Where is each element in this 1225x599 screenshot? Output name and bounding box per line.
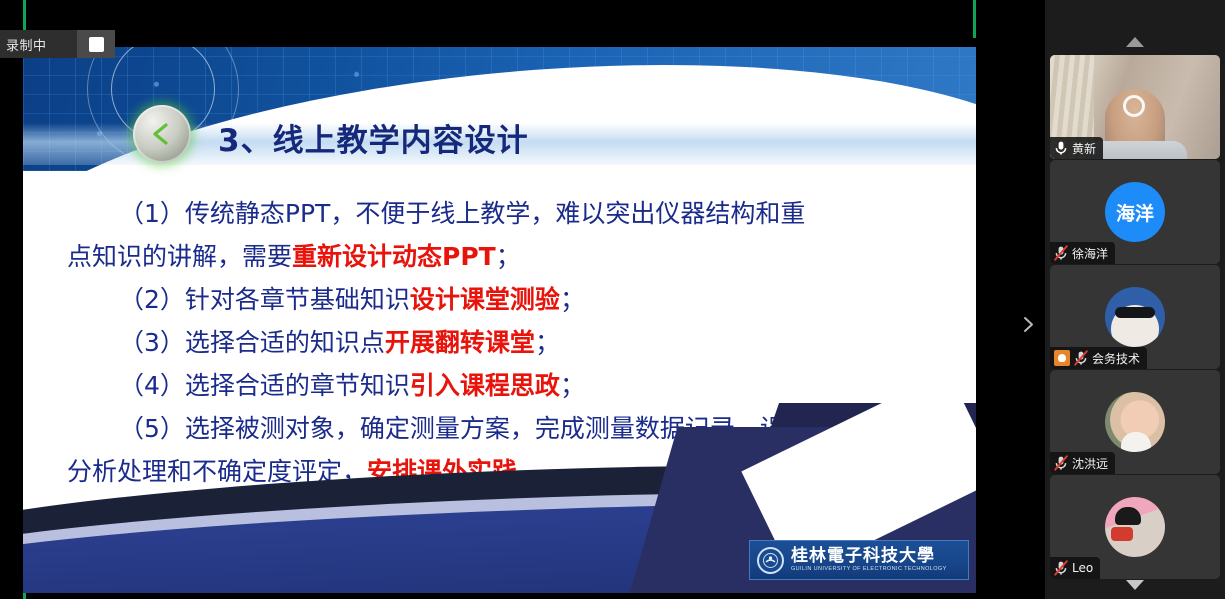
- slide-text-plain: ；: [535, 328, 560, 357]
- university-name-chinese: 桂林電子科技大學: [791, 548, 947, 565]
- screen-share-border-bottom: [23, 593, 26, 599]
- slide-text-plain: ；: [560, 371, 585, 400]
- slide-text-plain: （4）选择合适的章节知识: [119, 371, 410, 400]
- participant-tile[interactable]: Leo: [1050, 475, 1220, 579]
- participant-avatar: [1105, 497, 1165, 557]
- shared-screen-area: 3、线上教学内容设计 （1）传统静态PPT，不便于线上教学，难以突出仪器结构和重…: [0, 0, 1045, 599]
- participant-nameplate: 会务技术: [1050, 347, 1147, 369]
- participant-avatar: [1105, 287, 1165, 347]
- participant-video-panel: 黄新海洋徐海洋会务技术沈洪远Leo: [1045, 0, 1225, 599]
- chevron-right-icon: [1023, 316, 1034, 333]
- mic-active-indicator: [1054, 140, 1068, 156]
- mic-muted-indicator: [1054, 455, 1068, 471]
- back-chevron-icon: [133, 105, 191, 163]
- slide-text-highlight: 引入课程思政: [410, 371, 560, 400]
- participant-name: 徐海洋: [1072, 245, 1108, 262]
- participant-avatar: [1105, 392, 1165, 452]
- participant-tile-list: 黄新海洋徐海洋会务技术沈洪远Leo: [1045, 55, 1225, 580]
- mic-muted-icon: [1054, 455, 1068, 471]
- collapse-panel-button[interactable]: [1011, 300, 1045, 348]
- video-ring-element: [1123, 95, 1145, 117]
- mic-muted-icon: [1054, 245, 1068, 261]
- recording-indicator: 录制中: [0, 30, 77, 58]
- slide-title: 3、线上教学内容设计: [218, 115, 529, 160]
- slide-bullet-line: 点知识的讲解，需要重新设计动态PPT；: [67, 236, 947, 277]
- participant-nameplate: 徐海洋: [1050, 242, 1115, 264]
- participant-name: 会务技术: [1092, 350, 1140, 367]
- slide-text-plain: 点知识的讲解，需要: [67, 242, 292, 271]
- slide-bullet-line: （3）选择合适的知识点开展翻转课堂；: [67, 322, 947, 363]
- participant-nameplate: 沈洪远: [1050, 452, 1115, 474]
- meeting-screen-share-window: 3、线上教学内容设计 （1）传统静态PPT，不便于线上教学，难以突出仪器结构和重…: [0, 0, 1225, 599]
- stop-square-icon: [89, 37, 104, 52]
- recording-label: 录制中: [6, 35, 47, 54]
- slide-text-plain: ；: [560, 285, 585, 314]
- university-name-english: GUILIN UNIVERSITY OF ELECTRONIC TECHNOLO…: [791, 567, 947, 573]
- presentation-slide: 3、线上教学内容设计 （1）传统静态PPT，不便于线上教学，难以突出仪器结构和重…: [23, 47, 976, 593]
- participant-avatar: 海洋: [1105, 182, 1165, 242]
- mic-muted-indicator: [1074, 350, 1088, 366]
- host-person-glyph: [1058, 354, 1066, 362]
- participant-tile[interactable]: 沈洪远: [1050, 370, 1220, 474]
- participant-name: 黄新: [1072, 140, 1096, 157]
- screen-share-border-left: [23, 0, 26, 30]
- university-seal-icon: [757, 547, 784, 574]
- slide-bullet-line: （1）传统静态PPT，不便于线上教学，难以突出仪器结构和重: [67, 193, 947, 234]
- triangle-down-icon: [1126, 580, 1144, 590]
- participant-name: 沈洪远: [1072, 455, 1108, 472]
- participant-tile[interactable]: 海洋徐海洋: [1050, 160, 1220, 264]
- triangle-up-icon: [1126, 37, 1144, 47]
- participant-tile[interactable]: 黄新: [1050, 55, 1220, 159]
- participant-tile[interactable]: 会务技术: [1050, 265, 1220, 369]
- mic-on-icon: [1054, 140, 1068, 156]
- slide-text-plain: （3）选择合适的知识点: [119, 328, 385, 357]
- slide-text-plain: （1）传统静态PPT，不便于线上教学，难以突出仪器结构和重: [119, 199, 805, 228]
- slide-bullet-line: （4）选择合适的章节知识引入课程思政；: [67, 365, 947, 406]
- university-logo-banner: 桂林電子科技大學 GUILIN UNIVERSITY OF ELECTRONIC…: [749, 540, 969, 580]
- slide-text-highlight: 设计课堂测验: [410, 285, 560, 314]
- scroll-participants-up-button[interactable]: [1045, 28, 1225, 56]
- slide-text-highlight: 重新设计动态PPT: [292, 242, 496, 271]
- stop-recording-button[interactable]: [77, 30, 115, 58]
- mic-muted-icon: [1074, 350, 1088, 366]
- screen-share-border-right: [973, 0, 976, 38]
- slide-text-highlight: 开展翻转课堂: [385, 328, 535, 357]
- slide-text-plain: （2）针对各章节基础知识: [119, 285, 410, 314]
- scroll-participants-down-button[interactable]: [1045, 571, 1225, 599]
- participant-nameplate: 黄新: [1050, 137, 1103, 159]
- slide-bullet-line: （2）针对各章节基础知识设计课堂测验；: [67, 279, 947, 320]
- host-badge-icon: [1054, 350, 1070, 366]
- slide-text-plain: ；: [496, 242, 521, 271]
- mic-muted-indicator: [1054, 245, 1068, 261]
